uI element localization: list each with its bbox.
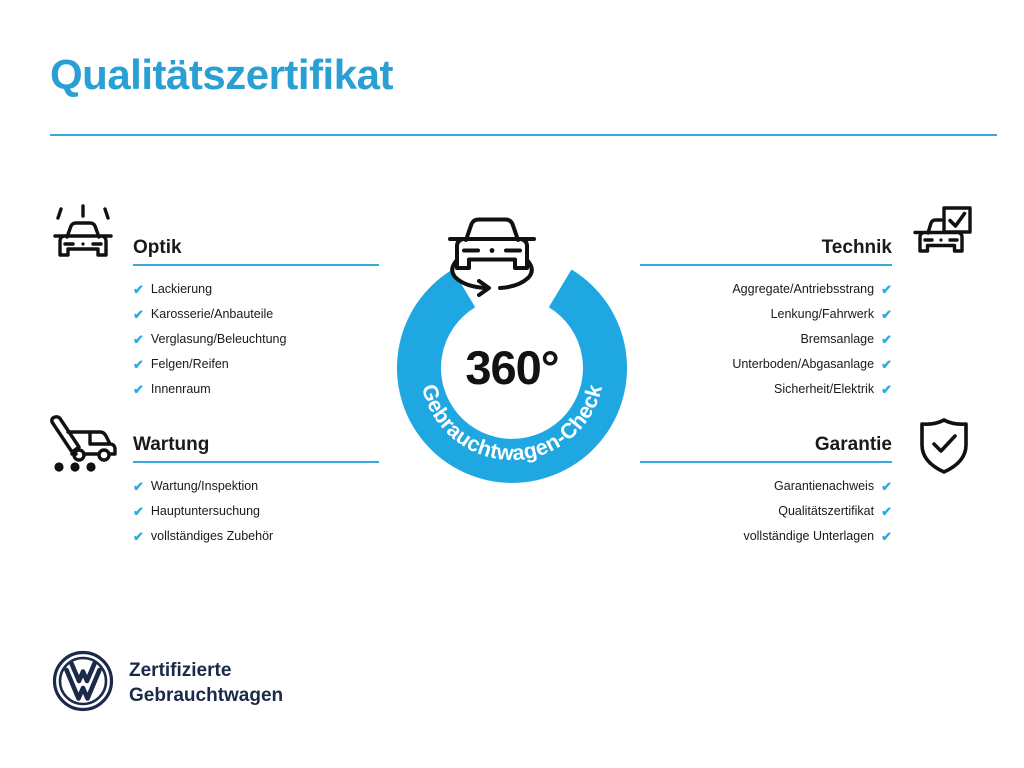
list-item: ✔Wartung/Inspektion xyxy=(133,480,379,505)
vw-logo xyxy=(52,650,114,717)
list-item-label: Innenraum xyxy=(151,383,211,396)
checklist-garantie: Garantienachweis✔ Qualitätszertifikat✔ v… xyxy=(640,463,892,555)
list-item: Qualitätszertifikat✔ xyxy=(640,505,892,530)
check-icon: ✔ xyxy=(133,480,144,493)
check-icon: ✔ xyxy=(881,283,892,296)
check-icon: ✔ xyxy=(881,358,892,371)
check-icon: ✔ xyxy=(133,283,144,296)
check-icon: ✔ xyxy=(133,383,144,396)
check-icon: ✔ xyxy=(133,505,144,518)
list-item-label: vollständiges Zubehör xyxy=(151,530,273,543)
footer-line-1: Zertifizierte xyxy=(129,659,283,683)
list-item: Bremsanlage✔ xyxy=(640,333,892,358)
list-item-label: Lenkung/Fahrwerk xyxy=(771,308,875,321)
check-icon: ✔ xyxy=(881,530,892,543)
list-item-label: Felgen/Reifen xyxy=(151,358,229,371)
list-item-label: Sicherheit/Elektrik xyxy=(774,383,874,396)
section-garantie: Garantie Garantienachweis✔ Qualitätszert… xyxy=(640,435,892,555)
vw-certified-lockup: Zertifizierte Gebrauchtwagen xyxy=(52,650,283,717)
list-item: vollständige Unterlagen✔ xyxy=(640,530,892,555)
list-item: Aggregate/Antriebsstrang✔ xyxy=(640,283,892,308)
vw-certified-text: Zertifizierte Gebrauchtwagen xyxy=(129,659,283,708)
list-item: Sicherheit/Elektrik✔ xyxy=(640,383,892,408)
check-icon: ✔ xyxy=(881,480,892,493)
section-heading-wartung: Wartung xyxy=(133,435,379,461)
car-front-rotate-icon xyxy=(450,220,534,296)
list-item: ✔Felgen/Reifen xyxy=(133,358,379,383)
list-item: Unterboden/Abgasanlage✔ xyxy=(640,358,892,383)
list-item-label: Karosserie/Anbauteile xyxy=(151,308,273,321)
check-icon: ✔ xyxy=(133,308,144,321)
list-item: ✔Karosserie/Anbauteile xyxy=(133,308,379,333)
list-item: Lenkung/Fahrwerk✔ xyxy=(640,308,892,333)
checklist-wartung: ✔Wartung/Inspektion ✔Hauptuntersuchung ✔… xyxy=(133,463,379,555)
check-icon: ✔ xyxy=(881,308,892,321)
list-item-label: Wartung/Inspektion xyxy=(151,480,258,493)
list-item-label: Verglasung/Beleuchtung xyxy=(151,333,287,346)
list-item-label: Qualitätszertifikat xyxy=(778,505,874,518)
checklist-technik: Aggregate/Antriebsstrang✔ Lenkung/Fahrwe… xyxy=(640,266,892,408)
list-item: ✔Verglasung/Beleuchtung xyxy=(133,333,379,358)
list-item-label: Unterboden/Abgasanlage xyxy=(732,358,874,371)
check-icon: ✔ xyxy=(881,383,892,396)
list-item-label: Bremsanlage xyxy=(800,333,874,346)
certificate-page: Qualitätszertifikat xyxy=(0,0,1024,768)
list-item: Garantienachweis✔ xyxy=(640,480,892,505)
section-technik: Technik Aggregate/Antriebsstrang✔ Lenkun… xyxy=(640,238,892,408)
section-optik: Optik ✔Lackierung ✔Karosserie/Anbauteile… xyxy=(133,238,379,408)
header-divider xyxy=(50,134,997,136)
check-icon: ✔ xyxy=(881,505,892,518)
footer-line-2: Gebrauchtwagen xyxy=(129,684,283,708)
car-shine-icon xyxy=(47,203,119,274)
section-heading-garantie: Garantie xyxy=(640,435,892,461)
list-item: ✔vollständiges Zubehör xyxy=(133,530,379,555)
list-item: ✔Innenraum xyxy=(133,383,379,408)
list-item: ✔Lackierung xyxy=(133,283,379,308)
list-item: ✔Hauptuntersuchung xyxy=(133,505,379,530)
check-icon: ✔ xyxy=(133,358,144,371)
gebrauchtwagen-check-badge: Gebrauchtwagen-Check 360° xyxy=(380,196,644,496)
checklist-optik: ✔Lackierung ✔Karosserie/Anbauteile ✔Verg… xyxy=(133,266,379,408)
car-oil-service-icon xyxy=(46,414,120,483)
list-item-label: Hauptuntersuchung xyxy=(151,505,260,518)
section-heading-technik: Technik xyxy=(640,238,892,264)
shield-check-icon xyxy=(918,416,970,481)
page-title: Qualitätszertifikat xyxy=(50,52,393,98)
list-item-label: Lackierung xyxy=(151,283,212,296)
section-heading-optik: Optik xyxy=(133,238,379,264)
car-checkbox-icon xyxy=(908,205,974,272)
list-item-label: vollständige Unterlagen xyxy=(743,530,874,543)
list-item-label: Aggregate/Antriebsstrang xyxy=(732,283,874,296)
section-wartung: Wartung ✔Wartung/Inspektion ✔Hauptunters… xyxy=(133,435,379,555)
check-icon: ✔ xyxy=(881,333,892,346)
list-item-label: Garantienachweis xyxy=(774,480,874,493)
check-icon: ✔ xyxy=(133,333,144,346)
check-icon: ✔ xyxy=(133,530,144,543)
